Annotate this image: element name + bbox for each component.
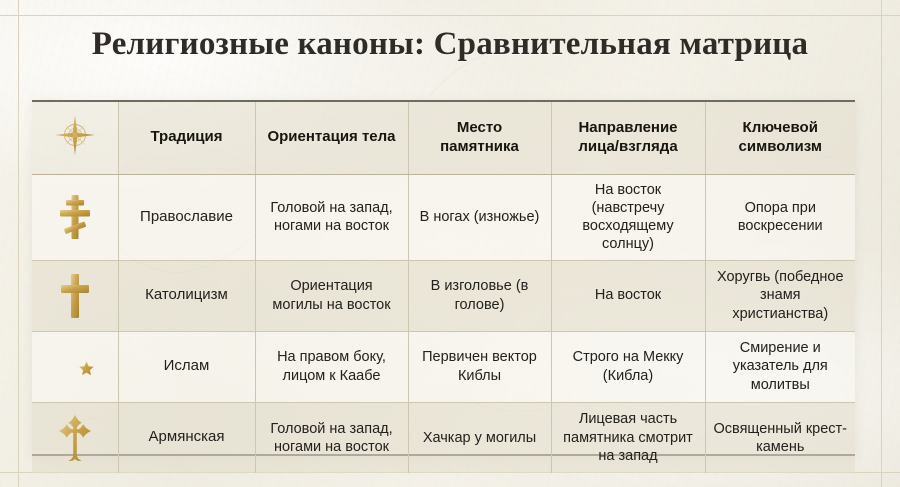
cell-face-direction: На восток bbox=[551, 260, 705, 331]
armenian-cross-icon bbox=[32, 413, 118, 463]
cell-tradition: Православие bbox=[118, 174, 255, 260]
table-row: Ислам На правом боку, лицом к Каабе Перв… bbox=[32, 331, 855, 402]
table-row: Католицизм Ориентация могилы на восток В… bbox=[32, 260, 855, 331]
cell-face-direction: Строго на Мекку (Кибла) bbox=[551, 331, 705, 402]
table-row: Армянская Головой на запад, ногами на во… bbox=[32, 402, 855, 473]
page-title: Религиозные каноны: Сравнительная матриц… bbox=[0, 26, 900, 63]
cell-body-orientation: Головой на запад, ногами на восток bbox=[255, 402, 408, 473]
row-icon-cell bbox=[32, 331, 118, 402]
cell-body-orientation: Ориентация могилы на восток bbox=[255, 260, 408, 331]
cell-body-orientation: На правом боку, лицом к Каабе bbox=[255, 331, 408, 402]
cell-key-symbolism: Опора при воскресении bbox=[705, 174, 855, 260]
header-cell-monument-place: Место памятника bbox=[408, 102, 551, 174]
table-header: Традиция Ориентация тела Место памятника… bbox=[32, 102, 855, 174]
cell-key-symbolism: Хоругвь (победное знамя христианства) bbox=[705, 260, 855, 331]
cell-monument-place: Хачкар у могилы bbox=[408, 402, 551, 473]
cell-tradition: Армянская bbox=[118, 402, 255, 473]
cell-key-symbolism: Освященный крест-камень bbox=[705, 402, 855, 473]
cell-key-symbolism: Смирение и указатель для молитвы bbox=[705, 331, 855, 402]
header-row: Традиция Ориентация тела Место памятника… bbox=[32, 102, 855, 174]
crescent-star-icon bbox=[32, 344, 118, 390]
row-icon-cell bbox=[32, 174, 118, 260]
cell-face-direction: На восток (навстречу восходящему солнцу) bbox=[551, 174, 705, 260]
cell-tradition: Ислам bbox=[118, 331, 255, 402]
orthodox-cross-icon bbox=[32, 192, 118, 242]
header-cell-face-direction: Направление лица/взгляда bbox=[551, 102, 705, 174]
table-body: Православие Головой на запад, ногами на … bbox=[32, 174, 855, 473]
cell-face-direction: Лицевая часть памятника смотрит на запад bbox=[551, 402, 705, 473]
row-icon-cell bbox=[32, 402, 118, 473]
row-icon-cell bbox=[32, 260, 118, 331]
cell-monument-place: В изголовье (в голове) bbox=[408, 260, 551, 331]
cell-body-orientation: Головой на запад, ногами на восток bbox=[255, 174, 408, 260]
header-cell-icon bbox=[32, 102, 118, 174]
cell-tradition: Католицизм bbox=[118, 260, 255, 331]
header-cell-key-symbolism: Ключевой символизм bbox=[705, 102, 855, 174]
comparison-matrix: Традиция Ориентация тела Место памятника… bbox=[32, 100, 855, 456]
header-cell-body-orientation: Ориентация тела bbox=[255, 102, 408, 174]
cell-monument-place: В ногах (изножье) bbox=[408, 174, 551, 260]
religious-canons-table: Традиция Ориентация тела Место памятника… bbox=[32, 102, 855, 473]
cell-monument-place: Первичен вектор Киблы bbox=[408, 331, 551, 402]
table-row: Православие Головой на запад, ногами на … bbox=[32, 174, 855, 260]
compass-rose-icon bbox=[54, 143, 96, 160]
header-cell-tradition: Традиция bbox=[118, 102, 255, 174]
latin-cross-icon bbox=[32, 271, 118, 321]
